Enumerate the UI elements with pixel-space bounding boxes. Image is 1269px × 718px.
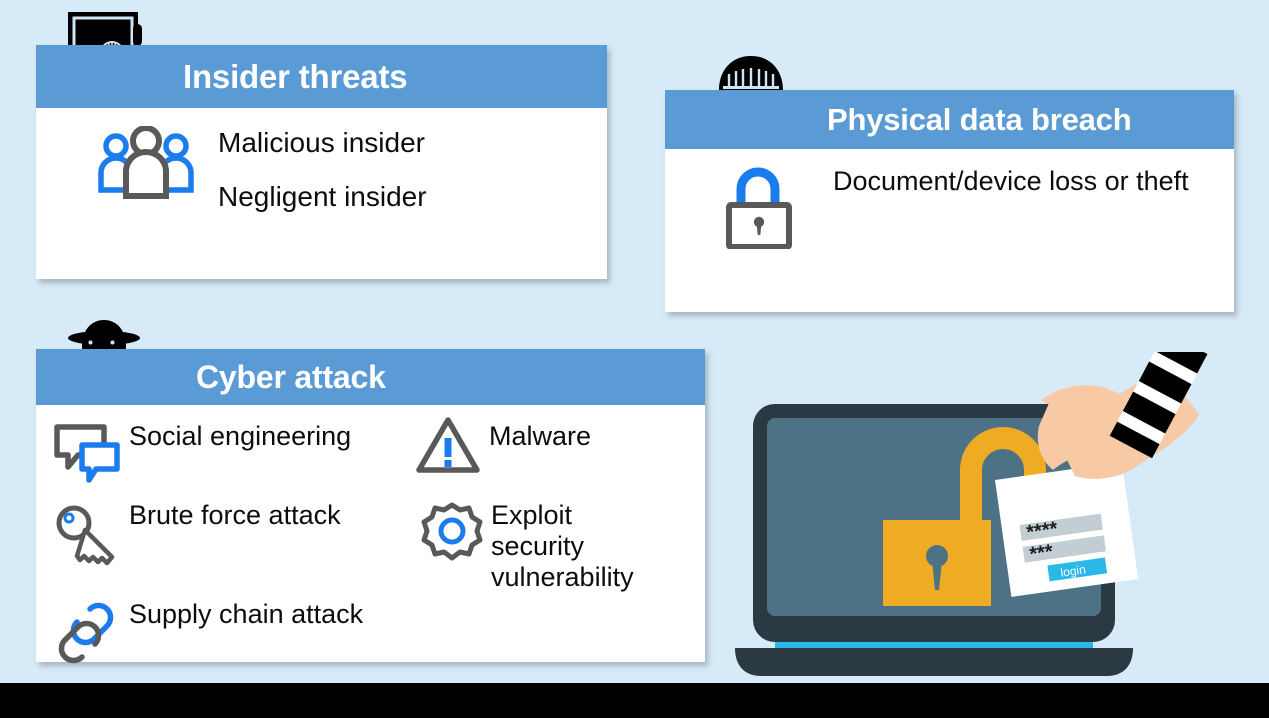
striped-sleeve-hand-icon — [1038, 352, 1208, 479]
open-padlock-icon — [721, 163, 797, 254]
laptop-password-theft-illustration: **** *** login — [723, 352, 1269, 687]
card-title-physical-data-breach: Physical data breach — [827, 102, 1131, 138]
physical-data-breach-list: Document/device loss or theft — [721, 163, 1189, 254]
svg-text:****: **** — [1025, 518, 1059, 544]
list-row: Supply chain attack — [52, 599, 704, 670]
cyber-attack-list: Social engineering Malware — [52, 421, 704, 674]
bottom-bar — [0, 683, 1269, 718]
insider-threats-labels: Malicious insider Negligent insider — [218, 120, 427, 214]
card-header-cyber-attack: Cyber attack — [36, 349, 705, 405]
list-item: Negligent insider — [218, 180, 427, 214]
insider-threats-list: Malicious insider Negligent insider — [98, 120, 427, 214]
card-body-insider-threats: Malicious insider Negligent insider — [36, 108, 607, 279]
card-title-insider-threats: Insider threats — [183, 58, 407, 96]
card-body-physical-data-breach: Document/device loss or theft — [665, 149, 1234, 312]
gear-icon — [420, 502, 484, 571]
card-header-insider-threats: Insider threats — [36, 45, 607, 108]
card-insider-threats: Insider threats — [36, 45, 607, 279]
card-cyber-attack: Cyber attack Social engineering — [36, 349, 705, 662]
card-body-cyber-attack: Social engineering Malware — [36, 405, 705, 662]
list-item: Malware — [414, 421, 591, 480]
warning-triangle-icon — [414, 415, 482, 480]
list-item: Brute force attack — [52, 500, 414, 573]
infographic-canvas: Insider threats — [0, 0, 1269, 718]
list-item-label: Exploit security vulnerability — [491, 500, 664, 593]
list-item: Malicious insider — [218, 126, 427, 160]
key-icon — [52, 502, 122, 573]
chain-link-icon — [52, 601, 122, 670]
list-row: Social engineering Malware — [52, 421, 704, 490]
list-row: Brute force attack Exploit security vuln… — [52, 500, 704, 593]
list-item-label: Malware — [489, 421, 591, 452]
list-item: Supply chain attack — [52, 599, 414, 670]
svg-text:***: *** — [1028, 541, 1054, 566]
people-group-icon — [98, 126, 194, 209]
list-item: Document/device loss or theft — [833, 165, 1189, 198]
card-header-physical-data-breach: Physical data breach — [665, 90, 1234, 149]
card-title-cyber-attack: Cyber attack — [196, 359, 386, 396]
login-card: **** *** login — [995, 462, 1138, 597]
list-item-label: Social engineering — [129, 421, 351, 452]
list-item-label: Brute force attack — [129, 500, 341, 531]
list-item-label: Supply chain attack — [129, 599, 363, 630]
card-physical-data-breach: Physical data breach Document/device los… — [665, 90, 1234, 312]
list-item: Exploit security vulnerability — [414, 500, 664, 593]
list-item: Social engineering — [52, 421, 414, 490]
speech-bubbles-icon — [52, 423, 122, 490]
physical-data-breach-labels: Document/device loss or theft — [833, 165, 1189, 198]
